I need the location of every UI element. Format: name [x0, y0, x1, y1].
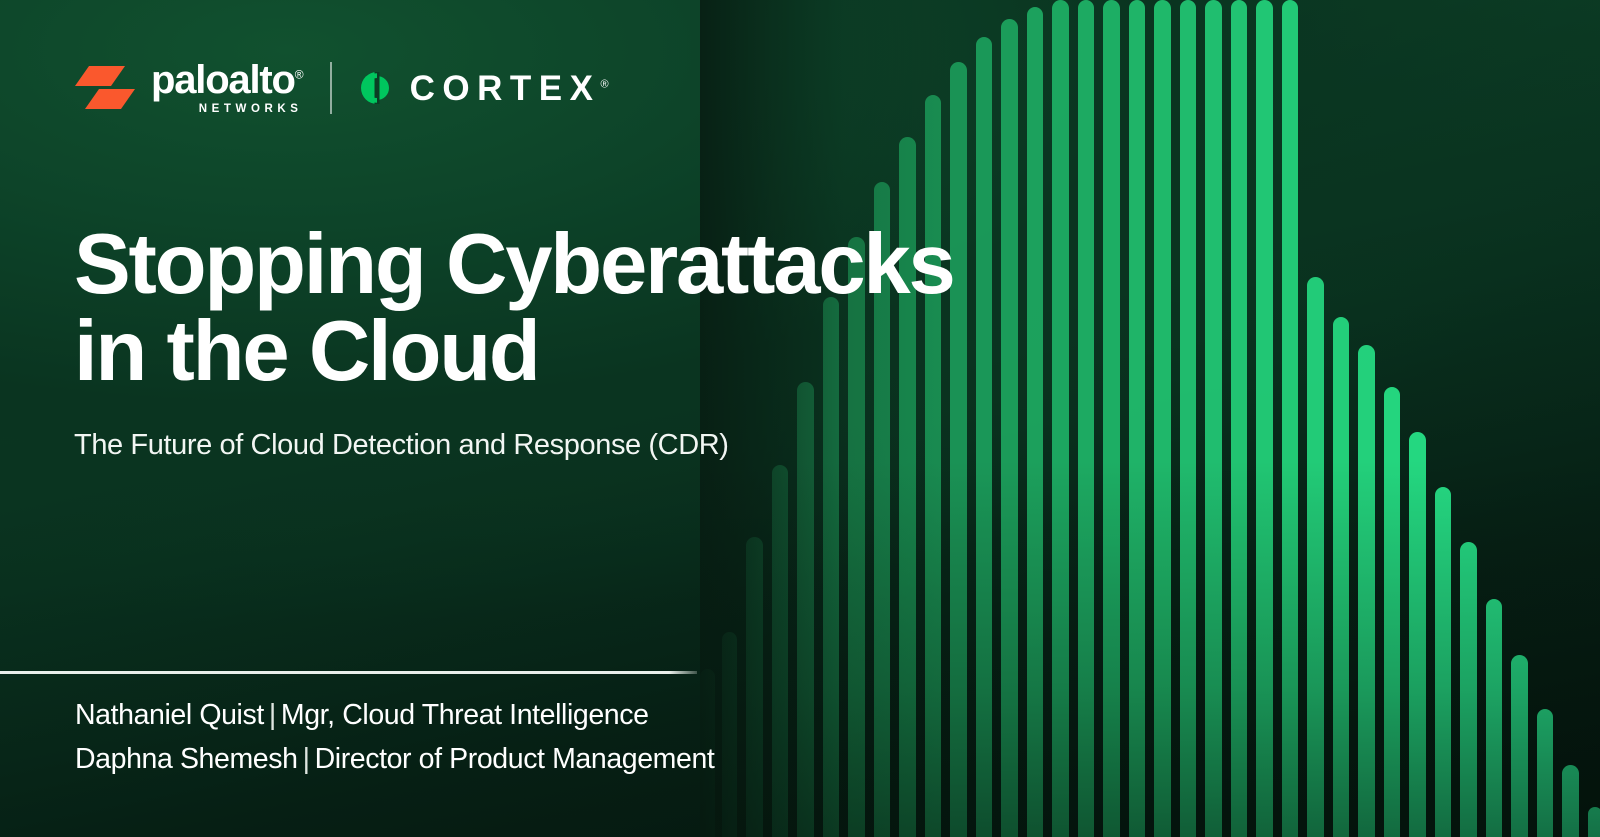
cortex-logo-mark: [359, 70, 395, 106]
decorative-bar: [1588, 807, 1600, 837]
presenter-role: Mgr, Cloud Threat Intelligence: [281, 699, 649, 731]
decorative-bar: [1486, 599, 1502, 837]
decorative-bar: [1435, 487, 1451, 837]
decorative-bar: [1205, 0, 1222, 837]
palo-alto-networks-wordmark: paloalto® NETWORKS: [151, 61, 304, 114]
presentation-title-slide: paloalto® NETWORKS CORTEX® Stopping Cybe…: [0, 0, 1600, 837]
brand-separator-divider: [330, 62, 332, 114]
palo-alto-name-text: paloalto: [151, 58, 295, 102]
decorative-bar: [1409, 432, 1426, 837]
decorative-bar: [976, 37, 992, 837]
presenter-separator: |: [264, 694, 281, 738]
decorative-bar: [1562, 765, 1579, 837]
palo-alto-networks-logo: paloalto® NETWORKS: [75, 61, 304, 114]
registered-mark-icon: ®: [295, 68, 304, 82]
page-title: Stopping Cyberattacks in the Cloud: [74, 222, 974, 395]
decorative-bar: [1180, 0, 1196, 837]
decorative-bar: [1078, 0, 1094, 837]
decorative-bar: [1027, 7, 1043, 837]
decorative-bar: [1103, 0, 1120, 837]
paloalto-networks-logo-mark: [75, 66, 138, 110]
presenter-name: Nathaniel Quist: [75, 699, 264, 731]
presenters-divider: [0, 671, 697, 674]
presenter-row: Nathaniel Quist|Mgr, Cloud Threat Intell…: [75, 694, 855, 738]
palo-alto-name: paloalto®: [151, 61, 304, 100]
decorative-bar: [1001, 19, 1018, 837]
cortex-registered-mark-icon: ®: [600, 78, 608, 90]
decorative-bar: [1460, 542, 1477, 837]
decorative-bar: [772, 465, 788, 837]
decorative-bar: [1358, 345, 1375, 837]
decorative-bar: [1154, 0, 1171, 837]
presenter-row: Daphna Shemesh|Director of Product Manag…: [75, 738, 855, 782]
decorative-bar: [1231, 0, 1247, 837]
presenters-list: Nathaniel Quist|Mgr, Cloud Threat Intell…: [75, 694, 855, 781]
headline-block: Stopping Cyberattacks in the Cloud The F…: [74, 222, 974, 464]
decorative-bar: [1384, 387, 1400, 837]
palo-alto-networks-subtext: NETWORKS: [199, 103, 303, 115]
cortex-logo: CORTEX®: [359, 70, 609, 106]
decorative-bar: [1052, 0, 1069, 837]
presenter-role: Director of Product Management: [315, 743, 715, 775]
decorative-bar: [1333, 317, 1349, 837]
cortex-name-text: CORTEX: [410, 69, 601, 108]
presenter-name: Daphna Shemesh: [75, 743, 298, 775]
page-subtitle: The Future of Cloud Detection and Respon…: [74, 427, 974, 463]
decorative-bar: [1282, 0, 1298, 837]
decorative-bar: [1511, 655, 1528, 837]
cortex-wordmark: CORTEX®: [410, 71, 609, 106]
decorative-bar: [1256, 0, 1273, 837]
decorative-bar: [1537, 709, 1553, 837]
decorative-bar: [746, 537, 763, 837]
presenter-separator: |: [298, 738, 315, 782]
decorative-bar: [925, 95, 941, 837]
decorative-bar: [1129, 0, 1145, 837]
decorative-bar: [1307, 277, 1324, 837]
brand-lockup: paloalto® NETWORKS CORTEX®: [75, 57, 609, 119]
